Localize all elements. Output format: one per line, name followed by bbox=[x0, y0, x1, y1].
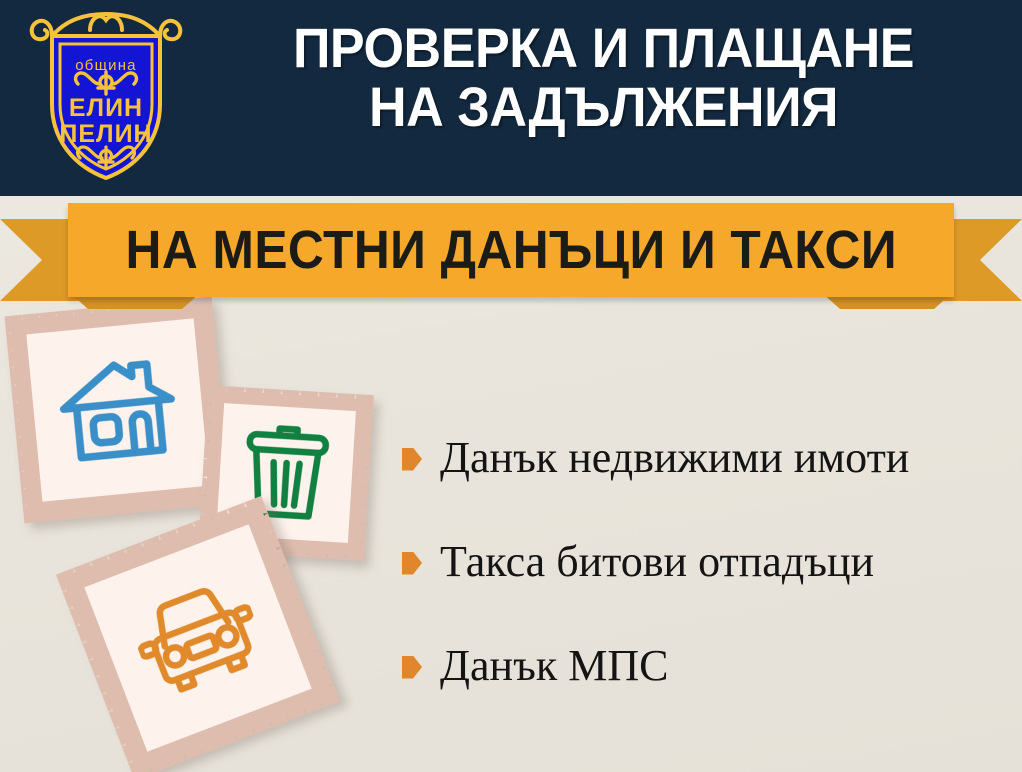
stamp-inner-vehicle bbox=[84, 524, 311, 751]
list-item[interactable]: Данък недвижими имоти bbox=[402, 424, 1002, 492]
ribbon-banner: НА МЕСТНИ ДАНЪЦИ И ТАКСИ bbox=[0, 196, 1022, 314]
house-icon bbox=[54, 353, 181, 468]
list-item[interactable]: Данък МПС bbox=[402, 632, 1002, 700]
municipality-emblem-icon: община ЕЛИН ПЕЛИН bbox=[22, 8, 190, 190]
stamp-card-property bbox=[5, 297, 232, 524]
list-item-label: Такса битови отпадъци bbox=[440, 540, 874, 584]
bullet-arrow-icon bbox=[402, 448, 422, 471]
stamp-card-group bbox=[0, 300, 420, 772]
poster-canvas: община ЕЛИН ПЕЛИН ПРОВЕРКА И ПЛАЩАНЕ НА … bbox=[0, 0, 1022, 772]
bullet-arrow-icon bbox=[402, 656, 422, 679]
car-front-icon bbox=[125, 572, 271, 705]
page-title: ПРОВЕРКА И ПЛАЩАНЕ НА ЗАДЪЛЖЕНИЯ bbox=[225, 18, 983, 137]
list-item-label: Данък недвижими имоти bbox=[440, 436, 909, 480]
bullet-arrow-icon bbox=[402, 552, 422, 575]
list-item-label: Данък МПС bbox=[440, 644, 668, 688]
ribbon-label: НА МЕСТНИ ДАНЪЦИ И ТАКСИ bbox=[125, 219, 897, 281]
svg-text:ЕЛИН: ЕЛИН bbox=[69, 94, 143, 122]
stamp-inner-property bbox=[26, 318, 209, 501]
ribbon-main-panel: НА МЕСТНИ ДАНЪЦИ И ТАКСИ bbox=[68, 203, 954, 297]
tax-type-list: Данък недвижими имоти Такса битови отпад… bbox=[402, 424, 1002, 736]
list-item[interactable]: Такса битови отпадъци bbox=[402, 528, 1002, 596]
svg-text:ПЕЛИН: ПЕЛИН bbox=[59, 120, 152, 148]
